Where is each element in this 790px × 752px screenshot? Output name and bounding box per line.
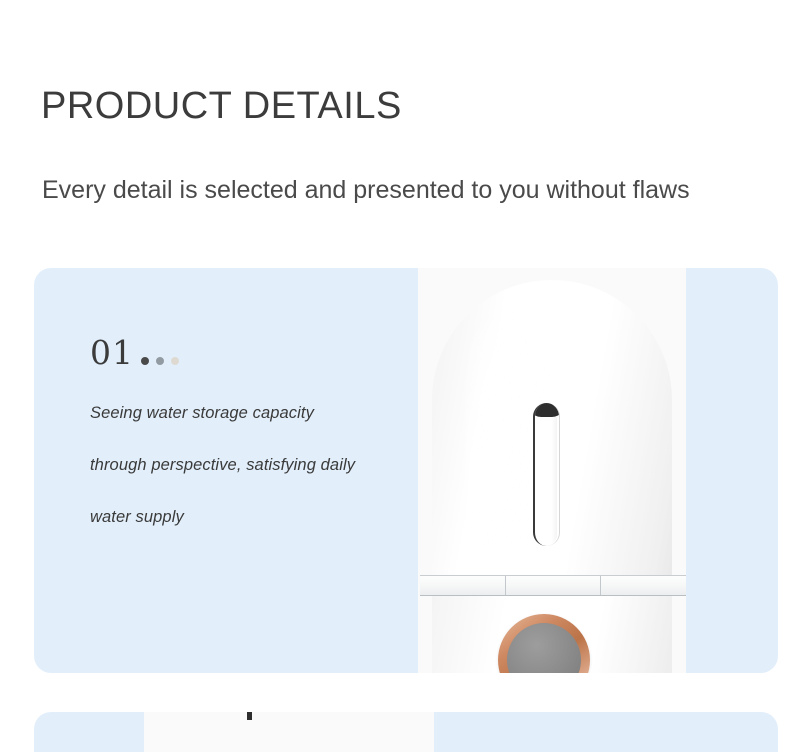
page-subtitle: Every detail is selected and presented t… (42, 174, 690, 206)
description-line-3: water supply (90, 508, 420, 527)
page-title: PRODUCT DETAILS (41, 84, 402, 128)
product-photo-2-partial (144, 712, 434, 752)
power-button-center (507, 623, 581, 673)
feature-card-02-partial (34, 712, 778, 752)
water-level-slot-inner (539, 417, 557, 544)
description-line-1: Seeing water storage capacity (90, 404, 420, 423)
product-details-page: PRODUCT DETAILS Every detail is selected… (0, 0, 790, 718)
description-line-2: through perspective, satisfying daily (90, 456, 420, 475)
product-top-mark (247, 712, 252, 720)
step-dots (141, 357, 179, 365)
dot-light-icon (171, 357, 179, 365)
product-photo (418, 268, 686, 673)
dot-medium-icon (156, 357, 164, 365)
seam-divider-right (600, 576, 601, 595)
transparent-seam-band (420, 575, 686, 596)
dot-dark-icon (141, 357, 149, 365)
feature-description: Seeing water storage capacity through pe… (90, 404, 420, 527)
water-level-slot (533, 403, 560, 546)
seam-divider-left (505, 576, 506, 595)
feature-card-01-text: 01 Seeing water storage capacity through… (90, 330, 420, 527)
step-number-row: 01 (90, 330, 420, 372)
step-number: 01 (90, 334, 134, 372)
water-level-slot-cap (533, 403, 560, 417)
feature-card-01: 01 Seeing water storage capacity through… (34, 268, 778, 673)
